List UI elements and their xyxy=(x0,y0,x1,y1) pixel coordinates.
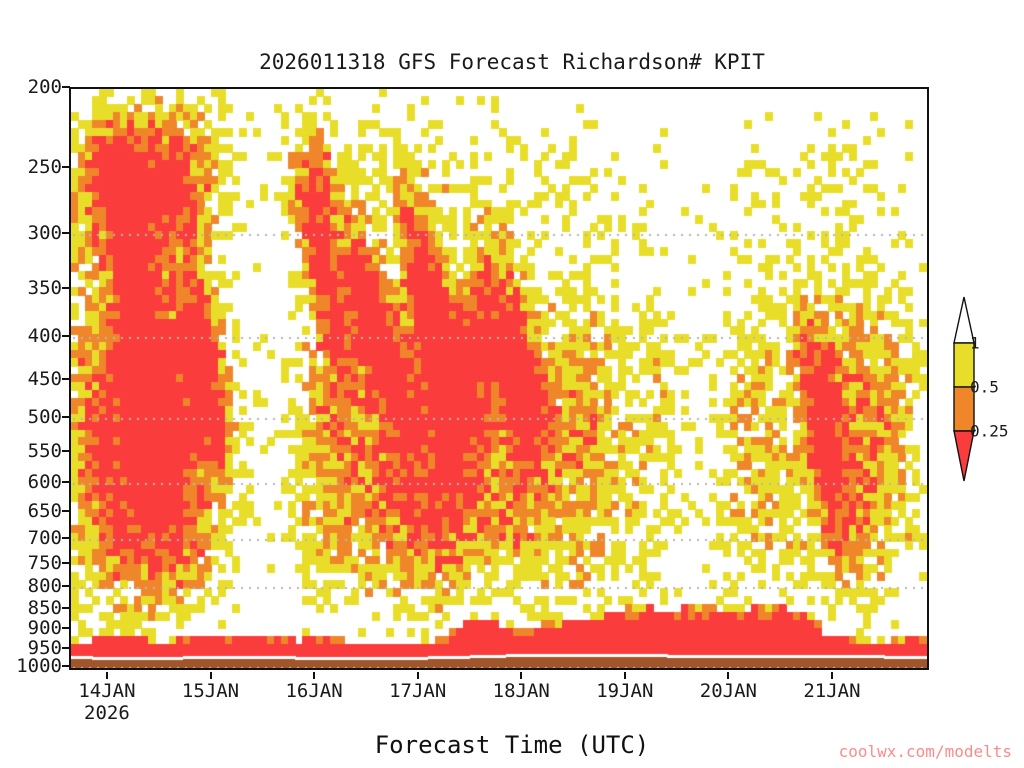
x-tick-sublabel-year: 2026 xyxy=(84,702,130,724)
y-tick-mark-400 xyxy=(62,335,70,337)
x-tick-mark-16JAN xyxy=(313,672,315,679)
y-tick-label-650: 650 xyxy=(28,500,62,522)
y-tick-mark-950 xyxy=(62,647,70,649)
colorbar-label-0.5: 0.5 xyxy=(970,378,999,397)
x-tick-mark-17JAN xyxy=(417,672,419,679)
colorbar-label-1: 1 xyxy=(970,334,980,353)
y-tick-label-400: 400 xyxy=(28,325,62,347)
x-tick-label-14JAN: 14JAN xyxy=(78,680,135,702)
y-tick-mark-650 xyxy=(62,510,70,512)
watermark: coolwx.com/modelts xyxy=(0,742,1012,761)
x-axis: 14JAN202615JAN16JAN17JAN18JAN19JAN20JAN2… xyxy=(69,672,929,732)
y-tick-label-600: 600 xyxy=(28,471,62,493)
y-tick-mark-750 xyxy=(62,562,70,564)
y-tick-label-800: 800 xyxy=(28,575,62,597)
y-axis: 2002503003504004505005506006507007508008… xyxy=(0,87,62,670)
colorbar-legend: 1 0.5 0.25 xyxy=(938,295,1024,495)
chart-page: 2026011318 GFS Forecast Richardson# KPIT… xyxy=(0,0,1024,768)
y-tick-label-850: 850 xyxy=(28,597,62,619)
x-tick-mark-18JAN xyxy=(520,672,522,679)
y-tick-label-300: 300 xyxy=(28,222,62,244)
y-tick-mark-800 xyxy=(62,585,70,587)
y-tick-label-500: 500 xyxy=(28,406,62,428)
y-tick-mark-700 xyxy=(62,537,70,539)
x-tick-label-21JAN: 21JAN xyxy=(803,680,860,702)
y-tick-label-450: 450 xyxy=(28,368,62,390)
page-title: 2026011318 GFS Forecast Richardson# KPIT xyxy=(0,50,1024,74)
x-tick-mark-14JAN xyxy=(106,672,108,679)
y-tick-label-550: 550 xyxy=(28,440,62,462)
y-tick-label-350: 350 xyxy=(28,277,62,299)
gridlines xyxy=(71,89,927,668)
x-tick-mark-21JAN xyxy=(831,672,833,679)
y-tick-mark-1000 xyxy=(62,665,70,667)
x-tick-label-17JAN: 17JAN xyxy=(389,680,446,702)
y-tick-mark-350 xyxy=(62,287,70,289)
y-tick-mark-450 xyxy=(62,378,70,380)
y-tick-mark-500 xyxy=(62,416,70,418)
x-tick-label-18JAN: 18JAN xyxy=(493,680,550,702)
x-tick-label-16JAN: 16JAN xyxy=(285,680,342,702)
y-tick-mark-200 xyxy=(62,86,70,88)
y-tick-label-750: 750 xyxy=(28,552,62,574)
x-tick-label-20JAN: 20JAN xyxy=(700,680,757,702)
y-tick-mark-850 xyxy=(62,607,70,609)
y-tick-mark-900 xyxy=(62,627,70,629)
y-tick-mark-250 xyxy=(62,166,70,168)
y-tick-label-250: 250 xyxy=(28,156,62,178)
x-tick-mark-20JAN xyxy=(727,672,729,679)
x-tick-mark-19JAN xyxy=(624,672,626,679)
y-tick-mark-600 xyxy=(62,481,70,483)
x-tick-label-19JAN: 19JAN xyxy=(596,680,653,702)
x-tick-mark-15JAN xyxy=(210,672,212,679)
colorbar-label-0.25: 0.25 xyxy=(970,422,1009,441)
y-tick-label-1000: 1000 xyxy=(16,655,62,677)
plot-area xyxy=(69,87,929,670)
y-tick-mark-550 xyxy=(62,450,70,452)
y-tick-label-700: 700 xyxy=(28,527,62,549)
y-tick-label-200: 200 xyxy=(28,76,62,98)
y-tick-mark-300 xyxy=(62,232,70,234)
x-tick-label-15JAN: 15JAN xyxy=(182,680,239,702)
